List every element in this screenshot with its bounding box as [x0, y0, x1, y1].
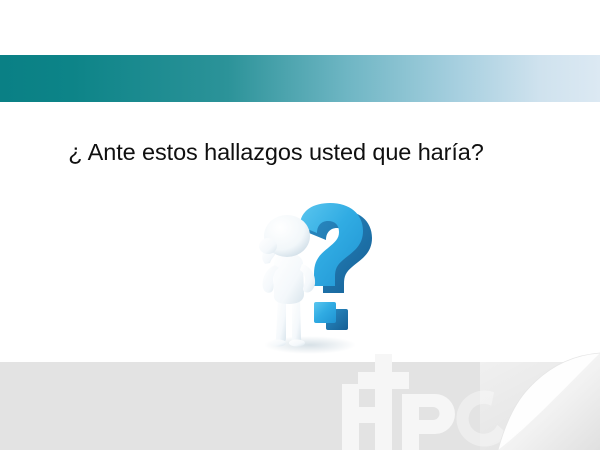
thinking-figure	[259, 215, 315, 347]
slide-canvas: ¿ Ante estos hallazgos usted que haría?	[0, 0, 600, 450]
page-title: ¿ Ante estos hallazgos usted que haría?	[0, 138, 552, 166]
footer-band	[0, 362, 600, 450]
top-gradient-band	[0, 55, 600, 102]
thinking-person-question-mark-illustration	[238, 202, 388, 357]
